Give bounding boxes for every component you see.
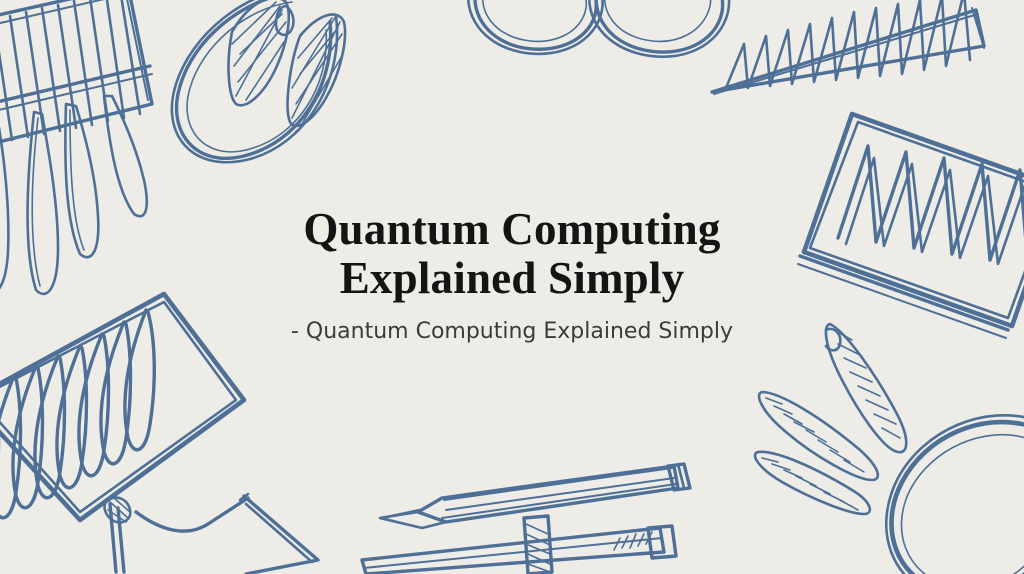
- slide-subtitle: - Quantum Computing Explained Simply: [0, 317, 1024, 347]
- circle-bowtie-sketch-icon: [172, 0, 345, 162]
- comb-sketch-icon: [0, 0, 152, 150]
- page-title: Quantum Computing Explained Simply: [0, 205, 1024, 303]
- circle-outline-sketch-icon: [886, 415, 1024, 574]
- overlapping-circles-sketch-icon: [468, 0, 729, 57]
- slide-text-block: Quantum Computing Explained Simply - Qua…: [0, 205, 1024, 347]
- hatched-leaves-sketch-icon: [755, 324, 906, 514]
- pencil-sketch-icon: [380, 464, 690, 528]
- title-slide: .dk { fill:none; stroke:#4E6F96; stroke-…: [0, 0, 1024, 574]
- ruler-sketch-icon: [362, 516, 676, 574]
- hatched-cone-sketch-icon: [712, 0, 984, 94]
